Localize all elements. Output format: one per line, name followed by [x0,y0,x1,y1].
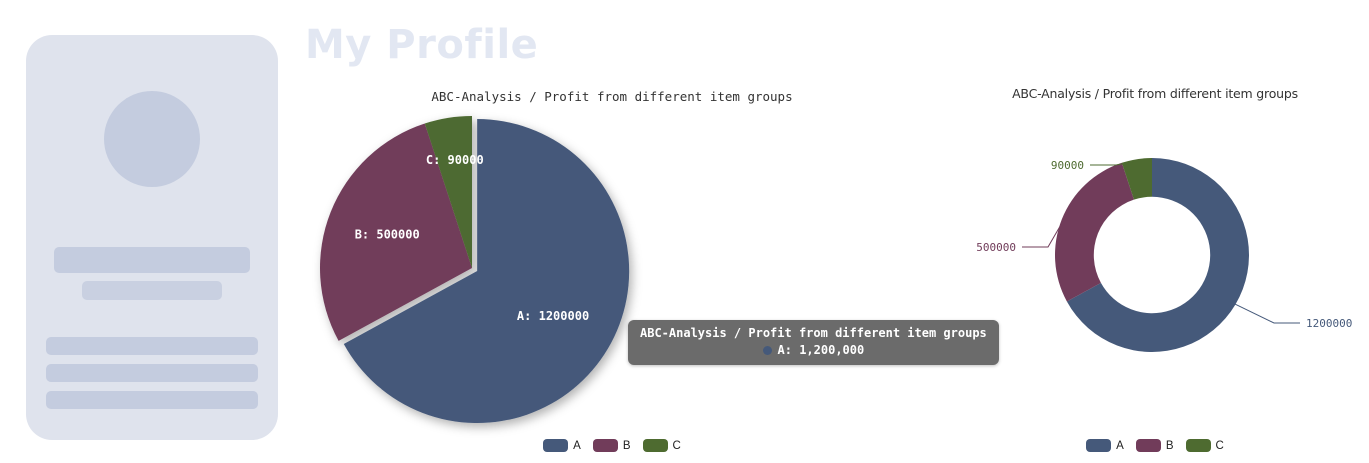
donut-legend-item-a[interactable]: A [1086,439,1124,452]
pie-chart-panel: ABC-Analysis / Profit from different ite… [300,80,940,460]
donut-slice-b[interactable] [1055,163,1134,302]
tooltip-title: ABC-Analysis / Profit from different ite… [640,326,987,340]
legend-swatch-icon [643,439,668,452]
legend-swatch-icon [1136,439,1161,452]
donut-value-label-b: 500000 [976,241,1016,254]
donut-legend-label: B [1166,440,1174,452]
avatar-placeholder [104,91,200,187]
pie-chart-legend[interactable]: ABC [292,439,932,452]
skeleton-title-bar [54,247,250,273]
profile-skeleton-card [26,35,278,440]
skeleton-row-bar-2 [46,364,258,382]
donut-value-label-a: 1200000 [1306,317,1352,330]
pie-legend-item-a[interactable]: A [543,439,581,452]
tooltip-value: A: 1,200,000 [778,343,865,357]
donut-legend-label: C [1216,440,1224,452]
pie-chart-svg[interactable]: A: 1200000B: 500000C: 90000 [300,80,940,460]
donut-leader-line-a [1234,303,1300,323]
page-title: My Profile [305,22,538,68]
skeleton-subtitle-bar [82,281,222,300]
legend-swatch-icon [543,439,568,452]
pie-slice-label-a: A: 1200000 [517,309,589,323]
donut-value-label-c: 90000 [1051,159,1084,172]
pie-slice-label-c: C: 90000 [426,153,484,167]
pie-legend-label: A [573,440,581,452]
donut-legend-item-b[interactable]: B [1136,439,1174,452]
donut-chart-svg[interactable]: 120000050000090000 [945,80,1365,460]
skeleton-row-bar-3 [46,391,258,409]
donut-chart-legend[interactable]: ABC [945,439,1365,452]
pie-legend-item-b[interactable]: B [593,439,631,452]
pie-legend-item-c[interactable]: C [643,439,681,452]
donut-chart-panel: ABC-Analysis / Profit from different ite… [945,80,1365,460]
donut-legend-item-c[interactable]: C [1186,439,1224,452]
pie-legend-label: C [673,440,681,452]
skeleton-row-bar-1 [46,337,258,355]
tooltip-series-marker-icon [763,346,772,355]
legend-swatch-icon [593,439,618,452]
pie-slice-label-b: B: 500000 [355,227,420,241]
legend-swatch-icon [1086,439,1111,452]
chart-tooltip: ABC-Analysis / Profit from different ite… [628,320,999,365]
pie-legend-label: B [623,440,631,452]
donut-legend-label: A [1116,440,1124,452]
legend-swatch-icon [1186,439,1211,452]
tooltip-row: A: 1,200,000 [640,343,987,357]
